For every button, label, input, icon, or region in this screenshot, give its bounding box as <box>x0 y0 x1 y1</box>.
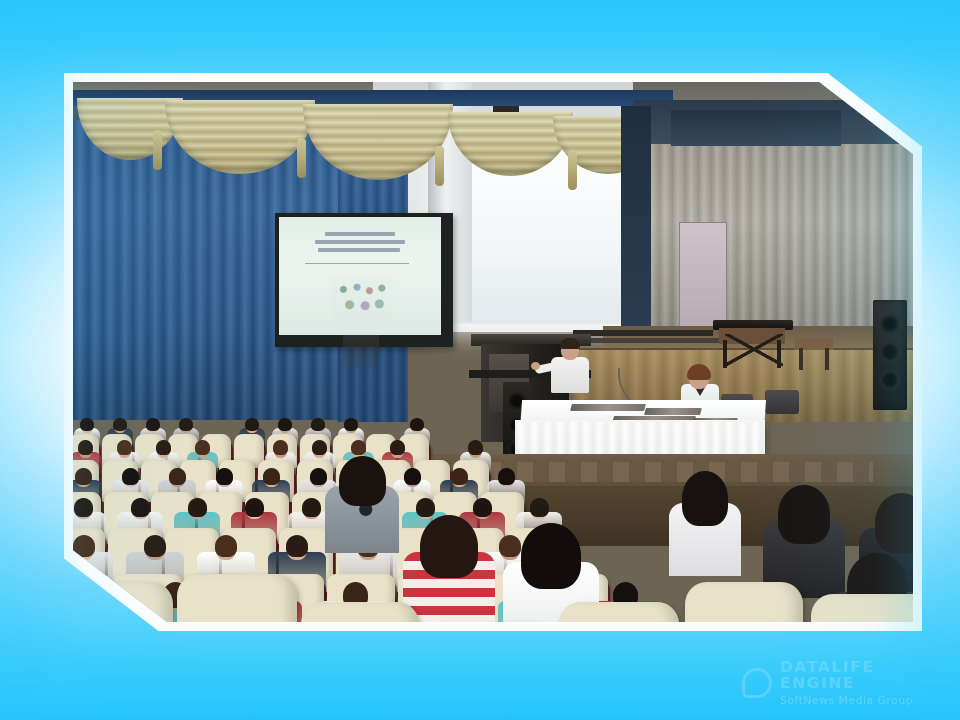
audience-head <box>74 584 97 611</box>
stool-leg <box>799 348 803 370</box>
screen-stand <box>343 335 379 369</box>
audience-hair <box>263 468 280 485</box>
audience-hair <box>80 418 94 431</box>
audience-member <box>73 532 118 612</box>
seat-frame <box>73 580 113 622</box>
keyboard-stand <box>725 334 783 366</box>
theatre-seat[interactable] <box>301 602 419 622</box>
audience-hair <box>146 418 160 431</box>
audience-hair <box>521 523 581 589</box>
datalife-logo-icon <box>742 668 772 698</box>
audience-hair <box>404 468 421 485</box>
stage-side-drape <box>621 106 651 362</box>
presenter-hair <box>560 338 580 349</box>
keyboard-leg <box>777 340 781 368</box>
speaker-cone-icon <box>880 370 900 390</box>
audience-hair <box>179 418 193 431</box>
audience-hair <box>73 535 95 557</box>
audience-hair <box>302 498 321 517</box>
watermark-text: DATALIFE ENGINE SoftNews Media Group <box>780 660 932 706</box>
audience-hair <box>169 468 186 485</box>
theatre-seat[interactable] <box>73 582 173 622</box>
slide-title-line <box>315 240 405 244</box>
audience-hair <box>195 440 210 455</box>
audience-hair <box>312 440 327 455</box>
theatre-seat[interactable] <box>811 594 913 622</box>
stage-rail <box>573 330 713 336</box>
audience-hair <box>351 440 366 455</box>
audience-hair <box>390 440 405 455</box>
watermark: DATALIFE ENGINE SoftNews Media Group <box>742 660 932 706</box>
audience-member-foreground <box>669 468 741 572</box>
stool-leg <box>825 348 829 370</box>
audience-hair <box>144 535 166 557</box>
audience-hair <box>215 535 237 557</box>
audience-member-foreground <box>403 512 495 622</box>
audience-hair <box>113 418 127 431</box>
audience-hair <box>273 440 288 455</box>
speaker-cone-icon <box>880 314 900 334</box>
table-papers <box>570 404 646 411</box>
table-papers <box>644 408 702 415</box>
presenter-hand <box>531 362 540 370</box>
audience-hair <box>188 498 207 517</box>
theatre-seat[interactable] <box>73 574 111 622</box>
keyboard-leg <box>723 340 727 368</box>
stage-side-door <box>679 222 727 336</box>
curtain-tassel <box>435 146 444 186</box>
presenter-body <box>551 357 589 393</box>
photo-frame[interactable] <box>64 73 922 631</box>
audience-hair <box>245 498 264 517</box>
audience-torso <box>73 552 113 602</box>
audience-hair <box>530 498 549 517</box>
audience-hair <box>344 418 358 431</box>
slide-title-line <box>325 232 395 236</box>
audience-torso <box>73 601 122 622</box>
audience-member-foreground <box>325 454 399 550</box>
audience-hair <box>311 418 325 431</box>
curtain-tassel <box>153 130 162 170</box>
conference-photo[interactable] <box>73 82 913 622</box>
theatre-seat[interactable] <box>685 582 803 622</box>
pa-speaker-tower-right <box>873 300 907 410</box>
audience-hair <box>875 493 913 553</box>
audience-hair <box>420 515 478 578</box>
watermark-subtitle: SoftNews Media Group <box>780 695 932 706</box>
photo-scene <box>73 82 913 622</box>
curtain-tassel <box>568 150 577 190</box>
audience-hair <box>73 582 98 608</box>
audience-hair <box>339 456 386 506</box>
audience-hair <box>156 440 171 455</box>
audience-hair <box>117 440 132 455</box>
empty-chair <box>765 390 799 414</box>
audience-hair <box>216 468 233 485</box>
audience-hair <box>245 418 259 431</box>
audience-hair <box>286 535 308 557</box>
audience-hair <box>278 418 292 431</box>
audience-hair <box>74 498 93 517</box>
stage-rail <box>569 338 719 343</box>
slide-divider <box>305 263 409 264</box>
slide-photo <box>331 274 393 318</box>
slide-canvas: DATALIFE ENGINE SoftNews Media Group <box>0 0 960 720</box>
audience-hair <box>78 440 93 455</box>
audience-hair <box>131 498 150 517</box>
audience-hair <box>451 468 468 485</box>
stage-pelmet-inner <box>671 110 841 146</box>
watermark-title: DATALIFE ENGINE <box>780 660 932 691</box>
audience-hair <box>75 468 92 485</box>
audience-hair <box>122 468 139 485</box>
audience-hair <box>468 440 483 455</box>
curtain-tassel <box>297 138 306 178</box>
audience-hair <box>498 468 515 485</box>
speaker-cone-icon <box>880 342 900 362</box>
slide-title-line <box>318 248 400 252</box>
audience-hair <box>410 418 424 431</box>
audience-hair <box>778 485 830 544</box>
theatre-seat[interactable] <box>559 602 679 622</box>
theatre-seat[interactable] <box>177 574 297 622</box>
audience-hair <box>682 471 728 526</box>
